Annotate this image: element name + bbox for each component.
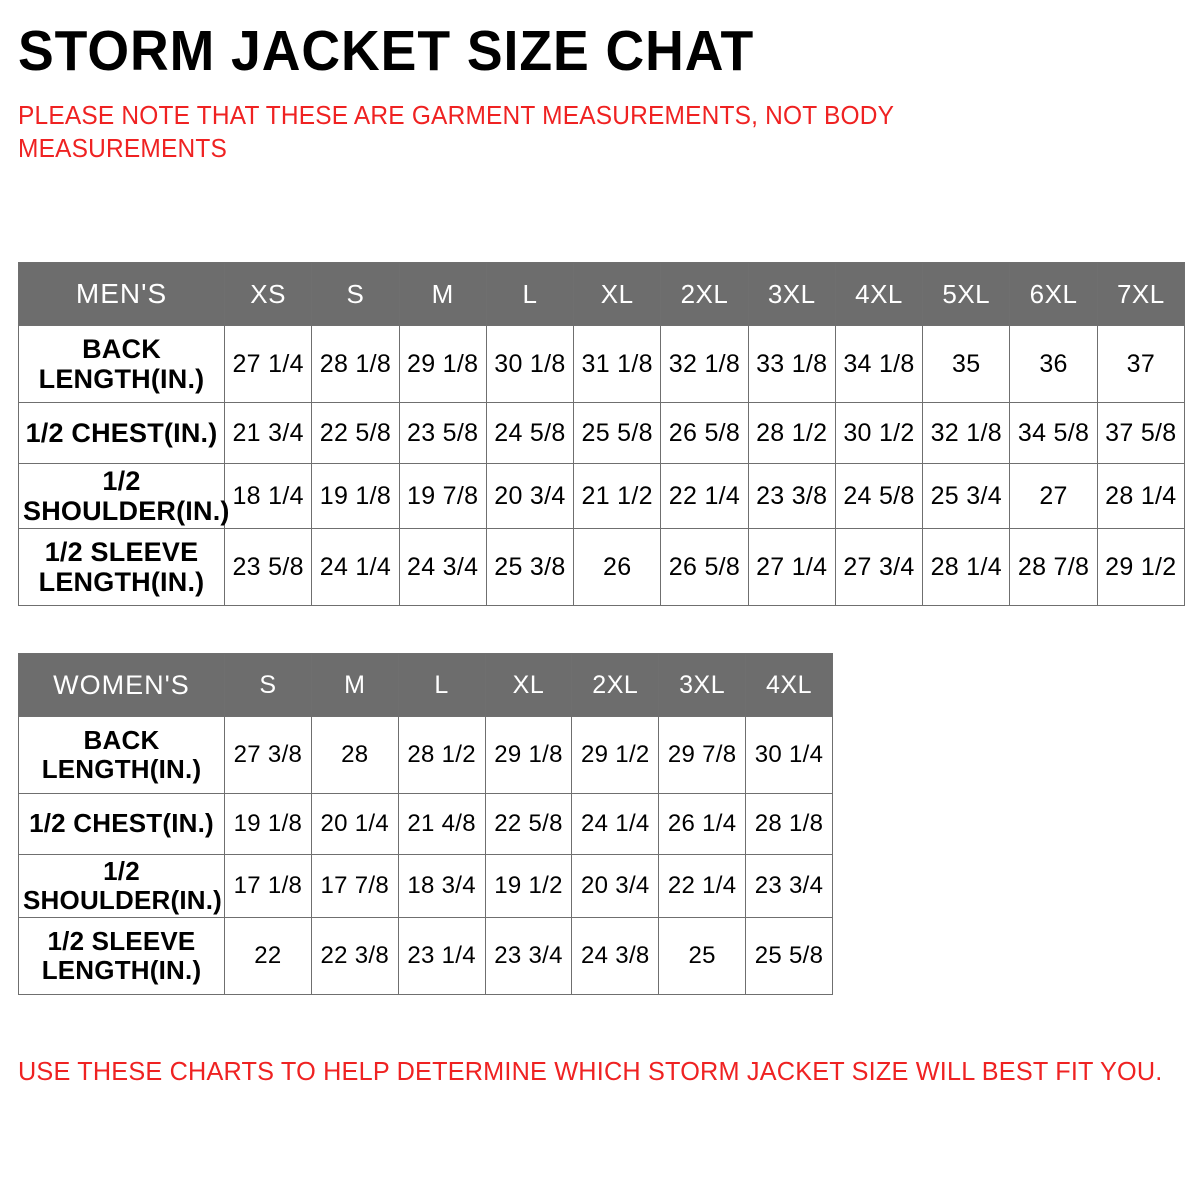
cell-xs: 21 3/4 bbox=[225, 403, 312, 464]
column-header-l: L bbox=[398, 654, 485, 717]
row-label-1-2-chest-in: 1/2 CHEST(IN.) bbox=[19, 403, 225, 464]
cell-xl: 26 bbox=[574, 529, 661, 606]
column-header-4xl: 4XL bbox=[835, 263, 922, 326]
cell-l: 20 3/4 bbox=[486, 464, 573, 529]
mens-table-corner-header: MEN'S bbox=[19, 263, 225, 326]
column-header-m: M bbox=[399, 263, 486, 326]
cell-2xl: 24 1/4 bbox=[572, 794, 659, 855]
cell-l: 28 1/2 bbox=[398, 717, 485, 794]
cell-xl: 21 1/2 bbox=[574, 464, 661, 529]
cell-l: 21 4/8 bbox=[398, 794, 485, 855]
cell-2xl: 24 3/8 bbox=[572, 918, 659, 995]
table-row: 1/2 SLEEVELENGTH(IN.)2222 3/823 1/423 3/… bbox=[19, 918, 833, 995]
cell-3xl: 33 1/8 bbox=[748, 326, 835, 403]
cell-5xl: 28 1/4 bbox=[923, 529, 1010, 606]
cell-s: 22 bbox=[225, 918, 312, 995]
column-header-4xl: 4XL bbox=[746, 654, 833, 717]
cell-6xl: 34 5/8 bbox=[1010, 403, 1097, 464]
mens-size-table-block: MEN'SXSSMLXL2XL3XL4XL5XL6XL7XL BACKLENGT… bbox=[18, 262, 1185, 606]
column-header-5xl: 5XL bbox=[923, 263, 1010, 326]
column-header-xl: XL bbox=[485, 654, 572, 717]
cell-2xl: 26 5/8 bbox=[661, 529, 748, 606]
cell-5xl: 32 1/8 bbox=[923, 403, 1010, 464]
womens-table-corner-header: WOMEN'S bbox=[19, 654, 225, 717]
cell-xl: 23 3/4 bbox=[485, 918, 572, 995]
table-row: 1/2 SHOULDER(IN.)18 1/419 1/819 7/820 3/… bbox=[19, 464, 1185, 529]
cell-xs: 23 5/8 bbox=[225, 529, 312, 606]
column-header-l: L bbox=[486, 263, 573, 326]
row-label-back-length-in: BACKLENGTH(IN.) bbox=[19, 326, 225, 403]
womens-table-head: WOMEN'SSMLXL2XL3XL4XL bbox=[19, 654, 833, 717]
cell-s: 22 5/8 bbox=[312, 403, 399, 464]
cell-s: 24 1/4 bbox=[312, 529, 399, 606]
table-row: 1/2 CHEST(IN.)19 1/820 1/421 4/822 5/824… bbox=[19, 794, 833, 855]
column-header-2xl: 2XL bbox=[572, 654, 659, 717]
column-header-2xl: 2XL bbox=[661, 263, 748, 326]
size-chart-page: STORM JACKET SIZE CHAT PLEASE NOTE THAT … bbox=[0, 0, 1200, 1200]
mens-size-table: MEN'SXSSMLXL2XL3XL4XL5XL6XL7XL BACKLENGT… bbox=[18, 262, 1185, 606]
table-row: BACKLENGTH(IN.)27 1/428 1/829 1/830 1/83… bbox=[19, 326, 1185, 403]
column-header-xl: XL bbox=[574, 263, 661, 326]
cell-4xl: 28 1/8 bbox=[746, 794, 833, 855]
cell-3xl: 27 1/4 bbox=[748, 529, 835, 606]
column-header-3xl: 3XL bbox=[659, 654, 746, 717]
column-header-m: M bbox=[311, 654, 398, 717]
cell-m: 29 1/8 bbox=[399, 326, 486, 403]
cell-4xl: 30 1/4 bbox=[746, 717, 833, 794]
cell-3xl: 25 bbox=[659, 918, 746, 995]
cell-7xl: 37 bbox=[1097, 326, 1184, 403]
cell-m: 23 5/8 bbox=[399, 403, 486, 464]
womens-header-row: WOMEN'SSMLXL2XL3XL4XL bbox=[19, 654, 833, 717]
garment-measurement-note: PLEASE NOTE THAT THESE ARE GARMENT MEASU… bbox=[18, 82, 930, 166]
cell-7xl: 37 5/8 bbox=[1097, 403, 1184, 464]
cell-xl: 25 5/8 bbox=[574, 403, 661, 464]
page-title: STORM JACKET SIZE CHAT bbox=[18, 0, 1112, 82]
column-header-s: S bbox=[225, 654, 312, 717]
cell-3xl: 26 1/4 bbox=[659, 794, 746, 855]
cell-7xl: 29 1/2 bbox=[1097, 529, 1184, 606]
column-header-s: S bbox=[312, 263, 399, 326]
cell-m: 28 bbox=[311, 717, 398, 794]
cell-6xl: 36 bbox=[1010, 326, 1097, 403]
table-row: 1/2 SLEEVELENGTH(IN.)23 5/824 1/424 3/42… bbox=[19, 529, 1185, 606]
row-label-1-2-sleeve-length-in: 1/2 SLEEVELENGTH(IN.) bbox=[19, 918, 225, 995]
mens-header-row: MEN'SXSSMLXL2XL3XL4XL5XL6XL7XL bbox=[19, 263, 1185, 326]
row-label-1-2-chest-in: 1/2 CHEST(IN.) bbox=[19, 794, 225, 855]
help-determine-size-note: USE THESE CHARTS TO HELP DETERMINE WHICH… bbox=[18, 1058, 1163, 1087]
cell-2xl: 29 1/2 bbox=[572, 717, 659, 794]
column-header-3xl: 3XL bbox=[748, 263, 835, 326]
cell-xl: 31 1/8 bbox=[574, 326, 661, 403]
cell-2xl: 32 1/8 bbox=[661, 326, 748, 403]
cell-l: 18 3/4 bbox=[398, 855, 485, 918]
cell-4xl: 24 5/8 bbox=[835, 464, 922, 529]
cell-6xl: 27 bbox=[1010, 464, 1097, 529]
cell-l: 24 5/8 bbox=[486, 403, 573, 464]
cell-m: 22 3/8 bbox=[311, 918, 398, 995]
cell-5xl: 25 3/4 bbox=[923, 464, 1010, 529]
cell-s: 19 1/8 bbox=[225, 794, 312, 855]
cell-s: 28 1/8 bbox=[312, 326, 399, 403]
table-row: 1/2 SHOULDER(IN.)17 1/817 7/818 3/419 1/… bbox=[19, 855, 833, 918]
cell-3xl: 28 1/2 bbox=[748, 403, 835, 464]
table-row: BACKLENGTH(IN.)27 3/82828 1/229 1/829 1/… bbox=[19, 717, 833, 794]
column-header-7xl: 7XL bbox=[1097, 263, 1184, 326]
cell-2xl: 22 1/4 bbox=[661, 464, 748, 529]
cell-3xl: 29 7/8 bbox=[659, 717, 746, 794]
column-header-6xl: 6XL bbox=[1010, 263, 1097, 326]
cell-s: 27 3/8 bbox=[225, 717, 312, 794]
cell-4xl: 34 1/8 bbox=[835, 326, 922, 403]
cell-xl: 19 1/2 bbox=[485, 855, 572, 918]
cell-m: 24 3/4 bbox=[399, 529, 486, 606]
cell-s: 17 1/8 bbox=[225, 855, 312, 918]
cell-3xl: 22 1/4 bbox=[659, 855, 746, 918]
cell-3xl: 23 3/8 bbox=[748, 464, 835, 529]
column-header-xs: XS bbox=[225, 263, 312, 326]
cell-l: 30 1/8 bbox=[486, 326, 573, 403]
womens-size-table-block: WOMEN'SSMLXL2XL3XL4XL BACKLENGTH(IN.)27 … bbox=[18, 653, 833, 995]
cell-l: 23 1/4 bbox=[398, 918, 485, 995]
row-label-1-2-shoulder-in: 1/2 SHOULDER(IN.) bbox=[19, 464, 225, 529]
cell-4xl: 23 3/4 bbox=[746, 855, 833, 918]
cell-xs: 18 1/4 bbox=[225, 464, 312, 529]
row-label-back-length-in: BACKLENGTH(IN.) bbox=[19, 717, 225, 794]
cell-5xl: 35 bbox=[923, 326, 1010, 403]
mens-table-head: MEN'SXSSMLXL2XL3XL4XL5XL6XL7XL bbox=[19, 263, 1185, 326]
mens-table-body: BACKLENGTH(IN.)27 1/428 1/829 1/830 1/83… bbox=[19, 326, 1185, 606]
cell-2xl: 20 3/4 bbox=[572, 855, 659, 918]
cell-4xl: 25 5/8 bbox=[746, 918, 833, 995]
cell-l: 25 3/8 bbox=[486, 529, 573, 606]
row-label-1-2-shoulder-in: 1/2 SHOULDER(IN.) bbox=[19, 855, 225, 918]
womens-table-body: BACKLENGTH(IN.)27 3/82828 1/229 1/829 1/… bbox=[19, 717, 833, 995]
cell-xl: 22 5/8 bbox=[485, 794, 572, 855]
cell-2xl: 26 5/8 bbox=[661, 403, 748, 464]
table-row: 1/2 CHEST(IN.)21 3/422 5/823 5/824 5/825… bbox=[19, 403, 1185, 464]
cell-s: 19 1/8 bbox=[312, 464, 399, 529]
cell-m: 20 1/4 bbox=[311, 794, 398, 855]
cell-4xl: 30 1/2 bbox=[835, 403, 922, 464]
row-label-1-2-sleeve-length-in: 1/2 SLEEVELENGTH(IN.) bbox=[19, 529, 225, 606]
cell-6xl: 28 7/8 bbox=[1010, 529, 1097, 606]
womens-size-table: WOMEN'SSMLXL2XL3XL4XL BACKLENGTH(IN.)27 … bbox=[18, 653, 833, 995]
cell-xl: 29 1/8 bbox=[485, 717, 572, 794]
cell-m: 17 7/8 bbox=[311, 855, 398, 918]
cell-4xl: 27 3/4 bbox=[835, 529, 922, 606]
cell-7xl: 28 1/4 bbox=[1097, 464, 1184, 529]
cell-xs: 27 1/4 bbox=[225, 326, 312, 403]
cell-m: 19 7/8 bbox=[399, 464, 486, 529]
